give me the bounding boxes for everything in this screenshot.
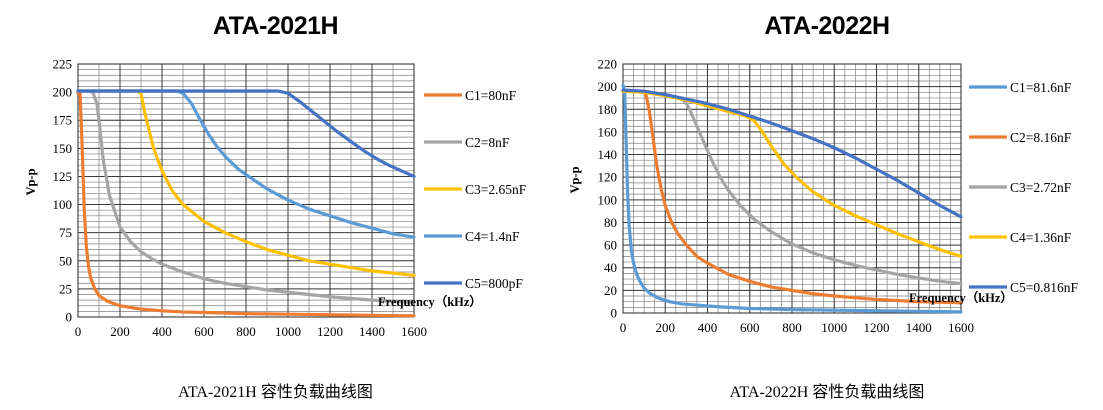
x-axis-label: Frequency（kHz） bbox=[378, 294, 482, 309]
legend-label-5: C5=800pF bbox=[465, 276, 523, 291]
capacitive-load-curves-page: ATA-2021H 025507510012515017520022502004… bbox=[0, 0, 1103, 410]
y-axis-label: Vp-p bbox=[24, 168, 38, 195]
x-tick-label: 1600 bbox=[948, 320, 974, 335]
x-axis-ticks: 02004006008001000120014001600 bbox=[620, 320, 974, 335]
x-tick-label: 1000 bbox=[275, 324, 301, 339]
x-axis-ticks: 02004006008001000120014001600 bbox=[75, 324, 427, 339]
legend-label-2: C2=8nF bbox=[465, 135, 510, 150]
y-axis-ticks: 0255075100125150175200225 bbox=[53, 57, 73, 325]
legend-label-5: C5=0.816nF bbox=[1010, 280, 1078, 295]
y-tick-label: 40 bbox=[604, 260, 617, 275]
y-tick-label: 200 bbox=[53, 85, 73, 100]
chart-caption-right: ATA-2022H 容性负载曲线图 bbox=[551, 378, 1103, 402]
legend-label-1: C1=80nF bbox=[465, 88, 517, 103]
legend-label-4: C4=1.4nF bbox=[465, 229, 520, 244]
x-tick-label: 600 bbox=[194, 324, 214, 339]
x-axis-label: Frequency（kHz） bbox=[909, 290, 1013, 305]
y-tick-label: 80 bbox=[604, 215, 617, 230]
x-tick-label: 1400 bbox=[906, 320, 932, 335]
chart-panel-ata-2022h: ATA-2022H 020406080100120140160180200220… bbox=[551, 0, 1103, 410]
chart-plot-left: 0255075100125150175200225020040060080010… bbox=[0, 52, 551, 352]
legend-label-3: C3=2.72nF bbox=[1010, 180, 1072, 195]
y-tick-label: 100 bbox=[53, 197, 73, 212]
y-tick-label: 150 bbox=[53, 141, 73, 156]
x-tick-label: 1200 bbox=[317, 324, 343, 339]
y-tick-label: 140 bbox=[598, 147, 618, 162]
y-tick-label: 220 bbox=[598, 57, 618, 72]
x-tick-label: 800 bbox=[782, 320, 802, 335]
y-axis-label: Vp-p bbox=[568, 166, 582, 193]
y-tick-label: 20 bbox=[604, 283, 617, 298]
y-tick-label: 125 bbox=[53, 169, 73, 184]
chart-plot-right: 0204060801001201401601802002200200400600… bbox=[551, 52, 1103, 352]
legend-label-3: C3=2.65nF bbox=[465, 182, 527, 197]
x-tick-label: 600 bbox=[740, 320, 760, 335]
chart-caption-left: ATA-2021H 容性负载曲线图 bbox=[0, 378, 581, 402]
y-axis-ticks: 020406080100120140160180200220 bbox=[598, 57, 618, 321]
legend-label-1: C1=81.6nF bbox=[1010, 80, 1072, 95]
x-tick-label: 200 bbox=[110, 324, 130, 339]
legend-label-2: C2=8.16nF bbox=[1010, 130, 1072, 145]
y-tick-label: 160 bbox=[598, 124, 618, 139]
y-tick-label: 75 bbox=[59, 225, 72, 240]
chart-legend: C1=81.6nFC2=8.16nFC3=2.72nFC4=1.36nFC5=0… bbox=[969, 80, 1078, 295]
y-tick-label: 0 bbox=[66, 310, 73, 325]
y-tick-label: 0 bbox=[611, 306, 618, 321]
grid-lines bbox=[78, 64, 414, 317]
x-tick-label: 0 bbox=[75, 324, 82, 339]
y-tick-label: 120 bbox=[598, 170, 618, 185]
x-tick-label: 1600 bbox=[401, 324, 427, 339]
y-tick-label: 50 bbox=[59, 253, 72, 268]
y-tick-label: 180 bbox=[598, 102, 618, 117]
chart-panel-ata-2021h: ATA-2021H 025507510012515017520022502004… bbox=[0, 0, 551, 410]
y-tick-label: 175 bbox=[53, 113, 73, 128]
chart-title-right: ATA-2022H bbox=[551, 12, 1103, 41]
x-tick-label: 0 bbox=[620, 320, 627, 335]
y-tick-label: 225 bbox=[53, 57, 73, 72]
x-tick-label: 400 bbox=[698, 320, 718, 335]
x-tick-label: 1000 bbox=[821, 320, 847, 335]
y-tick-label: 200 bbox=[598, 79, 618, 94]
y-tick-label: 60 bbox=[604, 238, 617, 253]
y-tick-label: 25 bbox=[59, 281, 72, 296]
y-tick-label: 100 bbox=[598, 192, 618, 207]
x-tick-label: 1400 bbox=[359, 324, 385, 339]
legend-label-4: C4=1.36nF bbox=[1010, 230, 1072, 245]
x-tick-label: 1200 bbox=[864, 320, 890, 335]
x-tick-label: 200 bbox=[656, 320, 676, 335]
chart-legend: C1=80nFC2=8nFC3=2.65nFC4=1.4nFC5=800pF bbox=[424, 88, 527, 291]
x-tick-label: 800 bbox=[236, 324, 256, 339]
x-tick-label: 400 bbox=[152, 324, 172, 339]
